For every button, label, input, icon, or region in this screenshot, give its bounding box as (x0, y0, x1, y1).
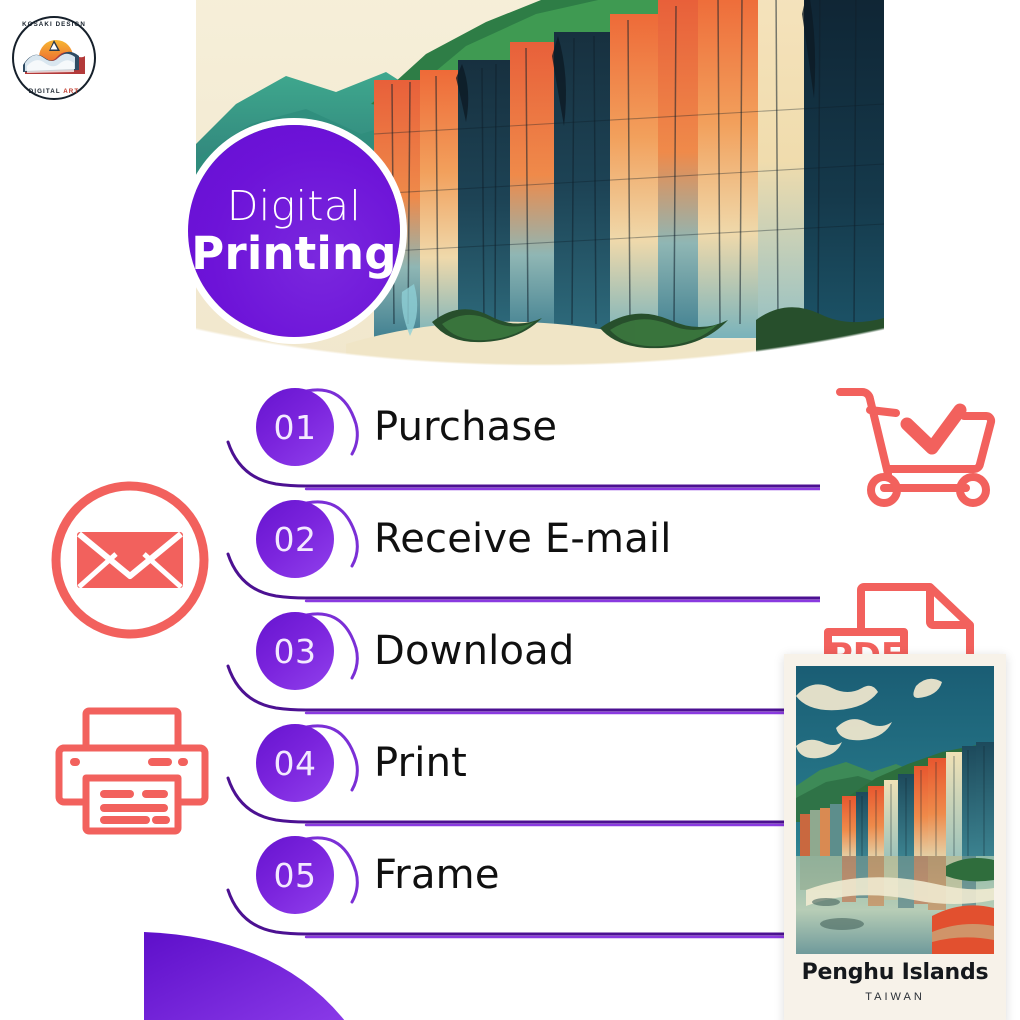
logo-bottom-main: DIGITAL (29, 88, 61, 95)
step-label: Download (374, 611, 574, 691)
printer-icon (52, 706, 212, 836)
step-item[interactable]: 01 Purchase (0, 378, 820, 490)
step-number-badge: 04 (256, 724, 334, 802)
penghu-cliffs-illustration (796, 666, 994, 954)
step-item[interactable]: 05 Frame (0, 826, 820, 938)
step-label: Frame (374, 835, 500, 915)
poster-title: Penghu Islands (784, 962, 1006, 984)
logo-bottom-text: DIGITAL ART (12, 88, 96, 95)
shopping-cart-check-icon (832, 382, 1004, 510)
step-number-badge: 03 (256, 612, 334, 690)
brand-logo[interactable]: KOSAKI DESIGN DIGITAL ART (12, 16, 96, 100)
logo-wave-icon (19, 23, 89, 93)
poster-caption: Penghu Islands TAIWAN (784, 962, 1006, 1003)
poster-canvas: KOSAKI DESIGN DIGITAL ART (0, 0, 1020, 1020)
envelope-circle-icon (48, 478, 212, 642)
step-label: Print (374, 723, 467, 803)
steps-list: 01 Purchase 02 Receive E-mail (0, 378, 820, 938)
step-label: Purchase (374, 387, 557, 467)
step-number: 02 (274, 520, 317, 559)
corner-decoration (144, 932, 360, 1020)
step-number-badge: 02 (256, 500, 334, 578)
logo-bottom-accent: ART (63, 88, 79, 95)
badge-line-1: Digital (227, 186, 361, 227)
step-number-badge: 01 (256, 388, 334, 466)
logo-artwork (19, 23, 89, 93)
badge-line-2: Printing (191, 231, 396, 276)
step-number: 04 (274, 744, 317, 783)
step-number-badge: 05 (256, 836, 334, 914)
poster-artwork (796, 666, 994, 954)
step-number: 05 (274, 856, 317, 895)
step-label: Receive E-mail (374, 499, 672, 579)
step-number: 03 (274, 632, 317, 671)
framed-poster: Penghu Islands TAIWAN (784, 654, 1006, 1020)
digital-printing-badge: Digital Printing (188, 125, 400, 337)
poster-subtitle: TAIWAN (784, 991, 1006, 1003)
step-number: 01 (274, 408, 317, 447)
logo-top-text: KOSAKI DESIGN (12, 21, 96, 28)
